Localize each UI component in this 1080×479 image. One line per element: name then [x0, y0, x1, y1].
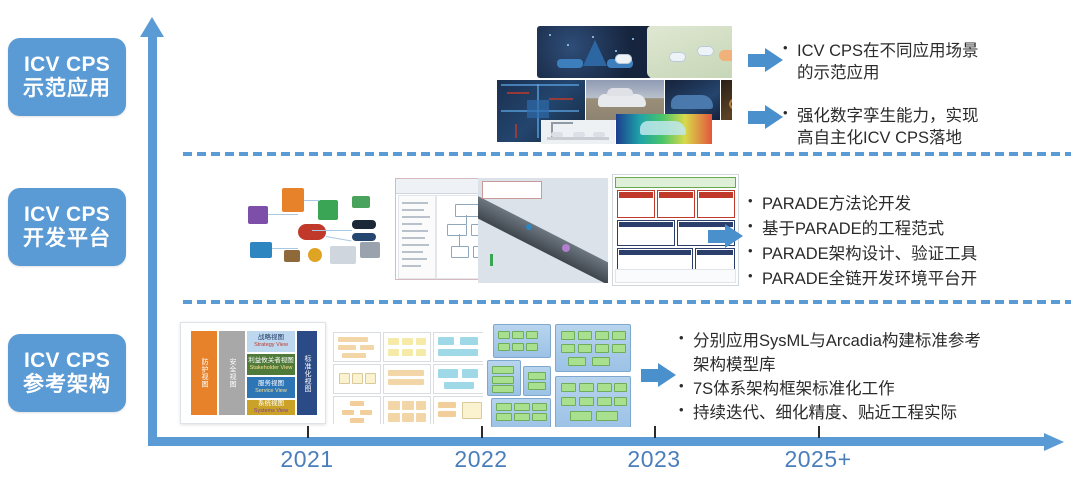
year-label-2021: 2021 — [280, 446, 333, 473]
lidar-pointcloud-panel — [616, 114, 712, 144]
axis-tick-2021 — [307, 426, 309, 438]
artwork-parade-methodology-diagram — [240, 180, 390, 275]
view-strategy-label-cn: 战略视图 — [258, 334, 284, 342]
view-service: 服务视图 Service View — [247, 377, 295, 398]
view-service-label-en: Service View — [255, 388, 287, 395]
view-standardization-label: 标准化视图 — [302, 355, 312, 392]
bullet-arrow-icon-1a — [748, 48, 783, 73]
artwork-demo-application-collage — [497, 24, 732, 144]
row-label-line1: ICV CPS — [24, 53, 110, 77]
row-label-line2: 示范应用 — [23, 77, 111, 101]
view-security-label: 防护视图 — [199, 358, 209, 388]
bullet-item: ICV CPS在不同应用场景 的示范应用 — [783, 40, 979, 85]
view-standardization: 标准化视图 — [297, 331, 317, 415]
axis-tick-2022 — [481, 426, 483, 438]
view-strategy-label-en: Strategy View — [254, 342, 288, 349]
view-systems-label-cn: 系统视图 — [258, 400, 284, 408]
roadmap-canvas: 2021 2022 2023 2025+ ICV CPS 示范应用 — [0, 0, 1080, 479]
china-map-panel — [647, 26, 732, 78]
view-systems: 系统视图 Systems View — [247, 400, 295, 415]
vertical-axis-line — [148, 34, 157, 446]
artwork-sysml-model-library — [333, 332, 483, 424]
view-stakeholder: 利益攸关者视图 Stakeholder View — [247, 354, 295, 375]
axis-tick-2023 — [654, 426, 656, 438]
row-separator-1 — [183, 152, 1071, 156]
timeline-axis-line — [148, 437, 1048, 446]
chassis-test-photo — [721, 80, 732, 120]
bullet-arrow-icon-2 — [708, 224, 743, 249]
row-label-reference-architecture[interactable]: ICV CPS 参考架构 — [8, 334, 126, 412]
artwork-7s-architecture-views: 防护视图 安全视图 战略视图 Strategy View 利益攸关者视图 Sta… — [180, 322, 326, 424]
night-sky-cloud-panel — [537, 26, 652, 78]
bullet-arrow-icon-1b — [748, 105, 783, 130]
artwork-arcadia-model-library — [485, 322, 635, 427]
bullet-arrow-icon-3 — [641, 363, 676, 388]
row-label-line2: 参考架构 — [23, 373, 111, 397]
bullet-item: 强化数字孪生能力，实现 高自主化ICV CPS落地 — [783, 105, 979, 150]
timeline-axis-arrow-icon — [1044, 433, 1064, 451]
year-label-2023: 2023 — [627, 446, 680, 473]
view-safety: 安全视图 — [219, 331, 245, 415]
row-label-development-platform[interactable]: ICV CPS 开发平台 — [8, 188, 126, 266]
artwork-simulation-scene — [478, 178, 608, 283]
bullet-item: 7S体系架构框架标准化工作 — [679, 378, 981, 402]
bullet-item: 持续迭代、细化精度、贴近工程实际 — [679, 402, 981, 426]
view-strategy: 战略视图 Strategy View — [247, 331, 295, 352]
year-label-2022: 2022 — [454, 446, 507, 473]
bullet-list-development-platform: PARADE方法论开发 基于PARADE的工程范式 PARADE架构设计、验证工… — [748, 192, 977, 292]
bullet-item: PARADE方法论开发 — [748, 192, 977, 217]
bullet-item: 基于PARADE的工程范式 — [748, 217, 977, 242]
bullet-item: PARADE全链开发环境平台开 — [748, 267, 977, 292]
row-label-line1: ICV CPS — [24, 203, 110, 227]
bullet-item: 分别应用SysML与Arcadia构建标准参考 架构模型库 — [679, 330, 981, 378]
row-label-demo-application[interactable]: ICV CPS 示范应用 — [8, 38, 126, 116]
view-security: 防护视图 — [191, 331, 217, 415]
bullet-item: PARADE架构设计、验证工具 — [748, 242, 977, 267]
roadside-unit-diagram — [541, 120, 615, 144]
bullet-list-demo-application: ICV CPS在不同应用场景 的示范应用 强化数字孪生能力，实现 高自主化ICV… — [783, 40, 979, 149]
bullet-list-reference-architecture: 分别应用SysML与Arcadia构建标准参考 架构模型库 7S体系架构框架标准… — [679, 330, 981, 426]
view-stakeholder-label-cn: 利益攸关者视图 — [248, 357, 294, 365]
view-systems-label-en: Systems View — [254, 408, 288, 415]
row-separator-2 — [183, 300, 1071, 304]
view-safety-label: 安全视图 — [227, 358, 237, 388]
year-label-2025-plus: 2025+ — [784, 446, 851, 473]
axis-tick-2025 — [818, 426, 820, 438]
view-stakeholder-label-en: Stakeholder View — [250, 365, 293, 372]
row-label-line1: ICV CPS — [24, 349, 110, 373]
view-service-label-cn: 服务视图 — [258, 380, 284, 388]
row-label-line2: 开发平台 — [23, 227, 111, 251]
